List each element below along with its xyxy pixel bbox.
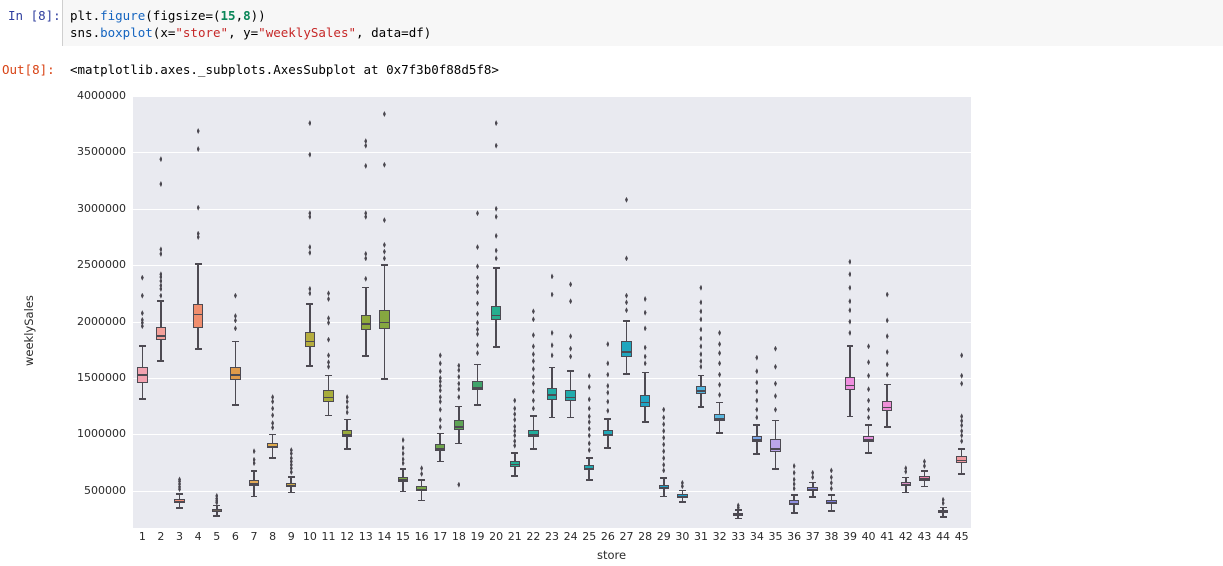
- whisker-cap-lower: [716, 432, 723, 434]
- outlier-point: [513, 438, 516, 444]
- whisker-cap-upper: [344, 419, 351, 421]
- median-line: [230, 374, 240, 376]
- outlier-point: [253, 448, 256, 454]
- outlier-point: [699, 351, 702, 357]
- whisker-cap-lower: [604, 447, 611, 449]
- code-token-num-8: 8: [243, 8, 251, 23]
- outlier-point: [886, 292, 889, 298]
- outlier-point: [867, 386, 870, 392]
- outlier-point: [532, 343, 535, 349]
- outlier-point: [569, 354, 572, 360]
- outlier-point: [867, 407, 870, 413]
- outlier-point: [476, 244, 479, 250]
- x-axis-label: store: [0, 548, 1223, 562]
- median-line: [938, 511, 948, 513]
- x-tick-label: 45: [942, 530, 982, 543]
- median-line: [435, 448, 445, 450]
- outlier-point: [495, 255, 498, 261]
- outlier-point: [904, 465, 907, 471]
- outlier-point: [532, 389, 535, 395]
- outlier-point: [699, 308, 702, 314]
- outlier-point: [755, 379, 758, 385]
- matplotlib-figure: 5000001000000150000020000002500000300000…: [0, 88, 1223, 566]
- outlier-point: [644, 325, 647, 331]
- y-tick-label: 500000: [84, 484, 126, 497]
- outlier-point: [308, 210, 311, 216]
- median-line: [547, 394, 557, 396]
- whisker-cap-upper: [530, 415, 537, 417]
- whisker-cap-lower: [325, 415, 332, 417]
- whisker-cap-upper: [809, 482, 816, 484]
- y-tick-label: 1000000: [77, 427, 126, 440]
- code-token-figure: figure: [100, 8, 145, 23]
- outlier-point: [439, 368, 442, 374]
- median-line: [603, 434, 613, 436]
- whisker-cap-upper: [474, 364, 481, 366]
- outlier-point: [457, 386, 460, 392]
- whisker-cap-upper: [940, 507, 947, 509]
- outlier-point: [960, 381, 963, 387]
- outlier-point: [159, 293, 162, 299]
- outlier-point: [495, 214, 498, 220]
- outlier-point: [364, 251, 367, 257]
- box: [621, 341, 631, 356]
- outlier-point: [644, 354, 647, 360]
- median-line: [156, 335, 166, 337]
- outlier-point: [718, 392, 721, 398]
- median-line: [249, 483, 259, 485]
- gridline: [133, 322, 971, 323]
- outlier-point: [644, 345, 647, 351]
- whisker-cap-lower: [251, 496, 258, 498]
- outlier-point: [364, 276, 367, 282]
- box: [454, 420, 464, 430]
- code-token-boxplot: boxplot: [100, 25, 153, 40]
- whisker-cap-upper: [623, 320, 630, 322]
- whisker-cap-upper: [157, 300, 164, 302]
- outlier-point: [718, 350, 721, 356]
- median-line: [212, 511, 222, 513]
- outlier-point: [699, 299, 702, 305]
- outlier-point: [606, 372, 609, 378]
- outlier-point: [830, 480, 833, 486]
- median-line: [752, 439, 762, 441]
- median-line: [807, 489, 817, 491]
- outlier-point: [793, 463, 796, 469]
- whisker-cap-lower: [791, 512, 798, 514]
- outlier-point: [569, 333, 572, 339]
- notebook-page: In [8]: plt.figure(figsize=(15,8)) sns.b…: [0, 0, 1223, 566]
- whisker-cap-upper: [251, 470, 258, 472]
- median-line: [956, 460, 966, 462]
- outlier-point: [830, 467, 833, 473]
- outlier-point: [588, 419, 591, 425]
- outlier-point: [532, 351, 535, 357]
- whisker-cap-lower: [232, 404, 239, 406]
- whisker-cap-upper: [362, 287, 369, 289]
- box: [770, 439, 780, 453]
- outlier-point: [886, 372, 889, 378]
- outlier-point: [755, 389, 758, 395]
- outlier-point: [457, 363, 460, 369]
- outlier-point: [699, 326, 702, 332]
- median-line: [696, 390, 706, 392]
- whisker-cap-lower: [902, 492, 909, 494]
- median-line: [323, 397, 333, 399]
- outlier-point: [402, 456, 405, 462]
- whisker-cap-lower: [213, 515, 220, 517]
- code-token-str-weeklysales: "weeklySales": [258, 25, 356, 40]
- whisker-cap-upper: [921, 470, 928, 472]
- outlier-point: [606, 408, 609, 414]
- y-axis-ticks: 5000001000000150000020000002500000300000…: [0, 96, 126, 528]
- median-line: [640, 402, 650, 404]
- outlier-point: [662, 435, 665, 441]
- output-prompt-label: Out[8]:: [2, 62, 55, 77]
- outlier-point: [383, 255, 386, 261]
- whisker-cap-upper: [549, 367, 556, 369]
- outlier-point: [532, 308, 535, 314]
- outlier-point: [755, 368, 758, 374]
- whisker-cap-lower: [455, 443, 462, 445]
- outlier-point: [383, 242, 386, 248]
- whisker-cap-upper: [791, 494, 798, 496]
- outlier-point: [439, 424, 442, 430]
- outlier-point: [699, 343, 702, 349]
- outlier-point: [662, 414, 665, 420]
- outlier-point: [439, 394, 442, 400]
- median-line: [137, 374, 147, 376]
- y-tick-label: 3000000: [77, 202, 126, 215]
- outlier-point: [625, 307, 628, 313]
- median-line: [491, 315, 501, 317]
- outlier-point: [569, 281, 572, 287]
- outlier-point: [364, 138, 367, 144]
- outlier-point: [774, 381, 777, 387]
- outlier-point: [681, 480, 684, 486]
- outlier-point: [755, 398, 758, 404]
- outlier-point: [606, 390, 609, 396]
- median-line: [845, 385, 855, 387]
- outlier-point: [141, 293, 144, 299]
- whisker-cap-upper: [437, 433, 444, 435]
- y-tick-label: 4000000: [77, 89, 126, 102]
- outlier-point: [234, 313, 237, 319]
- gridline: [133, 434, 971, 435]
- outlier-point: [848, 307, 851, 313]
- outlier-point: [793, 470, 796, 476]
- outlier-point: [383, 217, 386, 223]
- outlier-point: [532, 381, 535, 387]
- whisker-cap-lower: [381, 378, 388, 380]
- outlier-point: [253, 457, 256, 463]
- whisker-cap-upper: [567, 370, 574, 372]
- outlier-point: [308, 250, 311, 256]
- outlier-point: [551, 330, 554, 336]
- whisker-cap-upper: [195, 263, 202, 265]
- whisker-cap-lower: [847, 416, 854, 418]
- outlier-point: [308, 286, 311, 292]
- whisker-cap-lower: [306, 365, 313, 367]
- outlier-point: [588, 447, 591, 453]
- whisker-cap-lower: [921, 486, 928, 488]
- outlier-point: [886, 349, 889, 355]
- outlier-point: [327, 315, 330, 321]
- outlier-point: [867, 414, 870, 420]
- y-tick-label: 1500000: [77, 371, 126, 384]
- outlier-point: [755, 407, 758, 413]
- outlier-point: [960, 438, 963, 444]
- outlier-point: [476, 311, 479, 317]
- outlier-point: [402, 437, 405, 443]
- outlier-point: [848, 298, 851, 304]
- outlier-point: [271, 420, 274, 426]
- outlier-point: [513, 398, 516, 404]
- outlier-point: [327, 352, 330, 358]
- outlier-point: [439, 375, 442, 381]
- outlier-point: [420, 471, 423, 477]
- whisker-cap-lower: [157, 360, 164, 362]
- box: [565, 390, 575, 400]
- whisker-cap-lower: [940, 516, 947, 518]
- median-line: [714, 418, 724, 420]
- outlier-point: [141, 275, 144, 281]
- outlier-point: [699, 358, 702, 364]
- outlier-point: [718, 330, 721, 336]
- outlier-point: [383, 162, 386, 168]
- outlier-point: [495, 248, 498, 254]
- median-line: [398, 479, 408, 481]
- outlier-point: [495, 233, 498, 239]
- whisker-cap-upper: [306, 303, 313, 305]
- outlier-point: [551, 342, 554, 348]
- outlier-point: [271, 412, 274, 418]
- code-token-plt: plt.: [70, 8, 100, 23]
- whisker-cap-upper: [400, 468, 407, 470]
- outlier-point: [662, 428, 665, 434]
- outlier-point: [588, 413, 591, 419]
- outlier-point: [569, 298, 572, 304]
- outlier-point: [457, 394, 460, 400]
- code-token-paren-b: )): [251, 8, 266, 23]
- box: [845, 377, 855, 391]
- whisker-cap-lower: [958, 473, 965, 475]
- outlier-point: [960, 352, 963, 358]
- whisker-cap-lower: [437, 461, 444, 463]
- median-line: [733, 514, 743, 516]
- outlier-point: [662, 448, 665, 454]
- outlier-point: [476, 210, 479, 216]
- outlier-point: [495, 143, 498, 149]
- whisker-cap-upper: [288, 476, 295, 478]
- outlier-point: [476, 289, 479, 295]
- outlier-point: [811, 470, 814, 476]
- whisker-cap-upper: [269, 434, 276, 436]
- outlier-point: [271, 405, 274, 411]
- median-line: [863, 439, 873, 441]
- whisker-cap-upper: [139, 345, 146, 347]
- whisker-cap-lower: [511, 475, 518, 477]
- outlier-point: [476, 326, 479, 332]
- outlier-point: [662, 442, 665, 448]
- median-line: [901, 484, 911, 486]
- outlier-point: [495, 206, 498, 212]
- whisker-cap-upper: [455, 406, 462, 408]
- whisker-cap-lower: [474, 404, 481, 406]
- box: [156, 327, 166, 339]
- median-line: [416, 489, 426, 491]
- outlier-point: [159, 156, 162, 162]
- whisker-cap-lower: [828, 510, 835, 512]
- whisker-cap-lower: [269, 457, 276, 459]
- outlier-point: [141, 310, 144, 316]
- median-line: [677, 496, 687, 498]
- whisker-cap-upper: [604, 418, 611, 420]
- whisker-cap-upper: [958, 448, 965, 450]
- outlier-point: [495, 120, 498, 126]
- code-token-paren-a: (figsize=(: [145, 8, 220, 23]
- outlier-point: [364, 163, 367, 169]
- median-line: [286, 485, 296, 487]
- median-line: [305, 341, 315, 343]
- outlier-point: [327, 290, 330, 296]
- whisker-cap-lower: [623, 373, 630, 375]
- whisker-cap-lower: [288, 492, 295, 494]
- outlier-point: [532, 398, 535, 404]
- outlier-point: [551, 352, 554, 358]
- outlier-point: [588, 440, 591, 446]
- outlier-point: [588, 405, 591, 411]
- outlier-point: [476, 350, 479, 356]
- outlier-point: [327, 337, 330, 343]
- outlier-point: [755, 414, 758, 420]
- whisker-cap-lower: [418, 500, 425, 502]
- outlier-point: [532, 366, 535, 372]
- outlier-point: [848, 330, 851, 336]
- whisker-cap-lower: [195, 348, 202, 350]
- outlier-point: [830, 474, 833, 480]
- median-line: [379, 322, 389, 324]
- outlier-point: [848, 259, 851, 265]
- outlier-point: [848, 271, 851, 277]
- gridline: [133, 152, 971, 153]
- outlier-point: [383, 111, 386, 117]
- outlier-point: [234, 325, 237, 331]
- median-line: [770, 448, 780, 450]
- whisker-cap-lower: [735, 518, 742, 520]
- outlier-point: [625, 255, 628, 261]
- outlier-point: [308, 120, 311, 126]
- outlier-point: [867, 359, 870, 365]
- notebook-input-cell[interactable]: In [8]: plt.figure(figsize=(15,8)) sns.b…: [0, 0, 1223, 46]
- whisker-cap-upper: [642, 372, 649, 374]
- outlier-point: [774, 364, 777, 370]
- outlier-point: [513, 423, 516, 429]
- outlier-point: [644, 310, 647, 316]
- median-line: [659, 487, 669, 489]
- whisker-cap-lower: [679, 501, 686, 503]
- gridline: [133, 265, 971, 266]
- plot-axes: [133, 96, 971, 528]
- outlier-point: [327, 296, 330, 302]
- outlier-point: [402, 445, 405, 451]
- outlier-point: [718, 372, 721, 378]
- outlier-point: [476, 342, 479, 348]
- outlier-point: [867, 343, 870, 349]
- outlier-point: [867, 398, 870, 404]
- whisker-cap-lower: [567, 417, 574, 419]
- outlier-point: [662, 421, 665, 427]
- whisker-cap-upper: [753, 424, 760, 426]
- whisker-cap-upper: [716, 402, 723, 404]
- whisker-cap-lower: [344, 448, 351, 450]
- outlier-point: [588, 426, 591, 432]
- input-prompt-label: In [8]:: [8, 8, 61, 23]
- outlier-point: [848, 319, 851, 325]
- outlier-point: [755, 355, 758, 361]
- whisker-cap-upper: [586, 457, 593, 459]
- outlier-point: [662, 455, 665, 461]
- outlier-point: [699, 364, 702, 370]
- whisker-cap-lower: [865, 452, 872, 454]
- outlier-point: [551, 292, 554, 298]
- outlier-point: [606, 383, 609, 389]
- whisker-cap-upper: [828, 494, 835, 496]
- outlier-point: [625, 197, 628, 203]
- outlier-point: [159, 181, 162, 187]
- outlier-point: [551, 273, 554, 279]
- outlier-point: [197, 146, 200, 152]
- y-tick-label: 2000000: [77, 315, 126, 328]
- code-line-2: sns.boxplot(x="store", y="weeklySales", …: [70, 25, 431, 40]
- output-repr-text: <matplotlib.axes._subplots.AxesSubplot a…: [70, 62, 499, 77]
- outlier-point: [532, 332, 535, 338]
- whisker-cap-lower: [530, 448, 537, 450]
- whisker-cap-lower: [753, 453, 760, 455]
- whisker-cap-upper: [698, 375, 705, 377]
- median-line: [267, 446, 277, 448]
- whisker-cap-lower: [493, 346, 500, 348]
- code-token-x-eq: (x=: [153, 25, 176, 40]
- code-token-sns: sns.: [70, 25, 100, 40]
- median-line: [565, 397, 575, 399]
- whisker-cap-lower: [884, 426, 891, 428]
- outlier-point: [606, 399, 609, 405]
- median-line: [882, 407, 892, 409]
- outlier-point: [439, 352, 442, 358]
- outlier-point: [197, 231, 200, 237]
- outlier-point: [569, 346, 572, 352]
- outlier-point: [364, 210, 367, 216]
- whisker-cap-lower: [400, 491, 407, 493]
- whisker-cap-lower: [698, 406, 705, 408]
- median-line: [193, 314, 203, 316]
- outlier-point: [588, 396, 591, 402]
- code-token-num-15: 15: [221, 8, 236, 23]
- outlier-point: [346, 394, 349, 400]
- outlier-point: [625, 293, 628, 299]
- outlier-point: [886, 333, 889, 339]
- outlier-point: [960, 428, 963, 434]
- box: [491, 306, 501, 321]
- median-line: [826, 502, 836, 504]
- outlier-point: [774, 393, 777, 399]
- whisker-cap-upper: [232, 341, 239, 343]
- outlier-point: [662, 407, 665, 413]
- outlier-point: [308, 244, 311, 250]
- outlier-point: [513, 417, 516, 423]
- median-line: [454, 426, 464, 428]
